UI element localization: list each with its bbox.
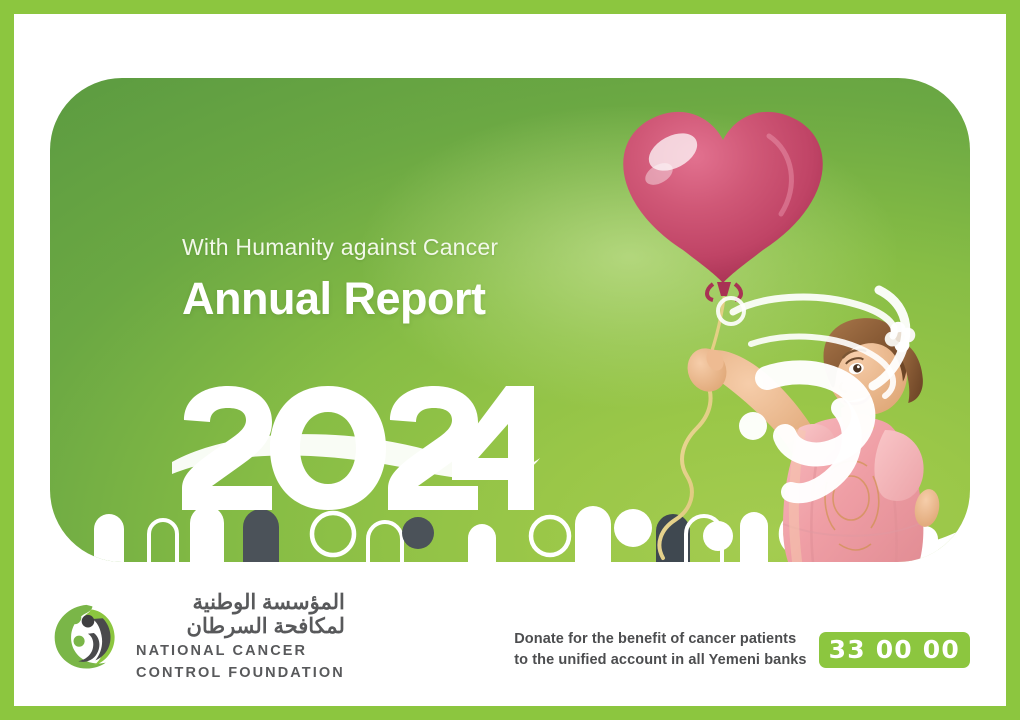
hero-artwork [555,78,970,562]
brand-text: المؤسسة الوطنية لمكافحة السرطان NATIONAL… [136,591,345,682]
donate-line-1: Donate for the benefit of cancer patient… [514,629,806,651]
heart-balloon [623,112,823,300]
donate-callout: Donate for the benefit of cancer patient… [514,629,970,673]
tagline: With Humanity against Cancer [182,234,612,262]
arabic-calligraphy-watermark [718,290,906,493]
curled-gold-ribbon [659,378,710,558]
page-title: Annual Report [182,275,612,322]
donation-account-badge[interactable]: 33 00 00 [819,632,970,668]
donate-line-2: to the unified account in all Yemeni ban… [514,650,806,672]
footer: المؤسسة الوطنية لمكافحة السرطان NATIONAL… [14,586,1006,706]
donate-text: Donate for the benefit of cancer patient… [514,629,806,673]
white-flower-hair-clip [881,318,919,356]
toddler-girl [681,306,942,562]
dress-embroidery [825,461,879,550]
ncc-foundation-logo [48,599,122,673]
year-2024 [178,384,538,514]
hero-panel: With Humanity against Cancer Annual Repo… [50,78,970,562]
report-cover: With Humanity against Cancer Annual Repo… [0,0,1020,720]
brand-arabic-line-1: المؤسسة الوطنية [136,591,345,615]
brand-english-line-1: NATIONAL CANCER [136,642,345,660]
brand-english-line-2: CONTROL FOUNDATION [136,664,345,682]
brand-lockup: المؤسسة الوطنية لمكافحة السرطان NATIONAL… [48,591,345,682]
hero-copy: With Humanity against Cancer Annual Repo… [182,234,612,322]
brand-arabic-line-2: لمكافحة السرطان [136,615,345,639]
hair [815,309,913,399]
balloon-string [705,298,724,370]
cover-inner-sheet: With Humanity against Cancer Annual Repo… [14,14,1006,706]
